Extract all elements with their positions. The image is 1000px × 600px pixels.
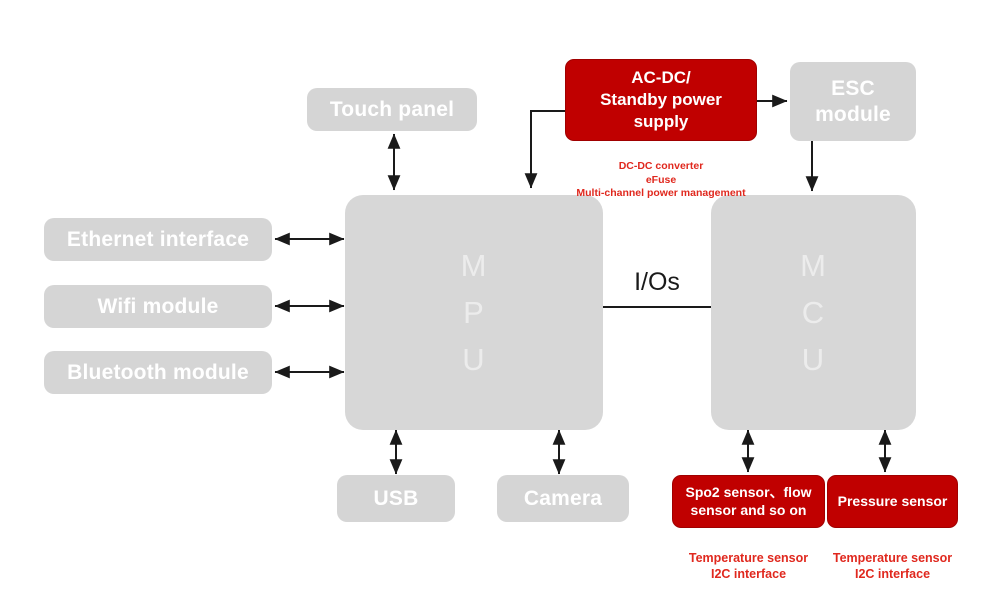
block-ethernet-interface[interactable]: Ethernet interface xyxy=(44,218,272,261)
caption-power-supply-text: DC-DC converter eFuse Multi-channel powe… xyxy=(576,160,745,199)
block-spo2-sensor-label: Spo2 sensor、flow sensor and so on xyxy=(685,484,811,518)
block-touch-panel-label: Touch panel xyxy=(330,98,454,122)
block-diagram-canvas: Touch panel Ethernet interface Wifi modu… xyxy=(0,0,1000,600)
ios-connection-label-text: I/Os xyxy=(634,268,680,296)
block-ethernet-interface-label: Ethernet interface xyxy=(67,228,249,252)
block-pressure-sensor-label: Pressure sensor xyxy=(838,493,948,510)
block-esc-module-label: ESC module xyxy=(815,76,891,127)
block-mpu[interactable]: M P U xyxy=(345,195,603,430)
block-spo2-sensor[interactable]: Spo2 sensor、flow sensor and so on xyxy=(672,475,825,528)
caption-spo2-sensor: Temperature sensor I2C interface xyxy=(665,534,832,582)
block-wifi-module-label: Wifi module xyxy=(97,295,218,319)
block-touch-panel[interactable]: Touch panel xyxy=(307,88,477,131)
block-mpu-label: M P U xyxy=(461,242,488,383)
block-pressure-sensor[interactable]: Pressure sensor xyxy=(827,475,958,528)
caption-pressure-sensor: Temperature sensor I2C interface xyxy=(822,534,963,582)
ios-connection-label: I/Os xyxy=(607,268,707,297)
block-camera-label: Camera xyxy=(524,487,602,511)
block-esc-module[interactable]: ESC module xyxy=(790,62,916,141)
block-power-supply-label: AC-DC/ Standby power supply xyxy=(600,67,722,133)
caption-power-supply: DC-DC converter eFuse Multi-channel powe… xyxy=(546,147,776,201)
block-bluetooth-module[interactable]: Bluetooth module xyxy=(44,351,272,394)
caption-pressure-sensor-text: Temperature sensor I2C interface xyxy=(833,551,952,581)
caption-spo2-sensor-text: Temperature sensor I2C interface xyxy=(689,551,808,581)
block-power-supply[interactable]: AC-DC/ Standby power supply xyxy=(565,59,757,141)
block-usb-label: USB xyxy=(374,487,419,511)
block-mcu-label: M C U xyxy=(800,242,827,383)
block-bluetooth-module-label: Bluetooth module xyxy=(67,361,249,385)
block-camera[interactable]: Camera xyxy=(497,475,629,522)
block-wifi-module[interactable]: Wifi module xyxy=(44,285,272,328)
block-mcu[interactable]: M C U xyxy=(711,195,916,430)
block-usb[interactable]: USB xyxy=(337,475,455,522)
